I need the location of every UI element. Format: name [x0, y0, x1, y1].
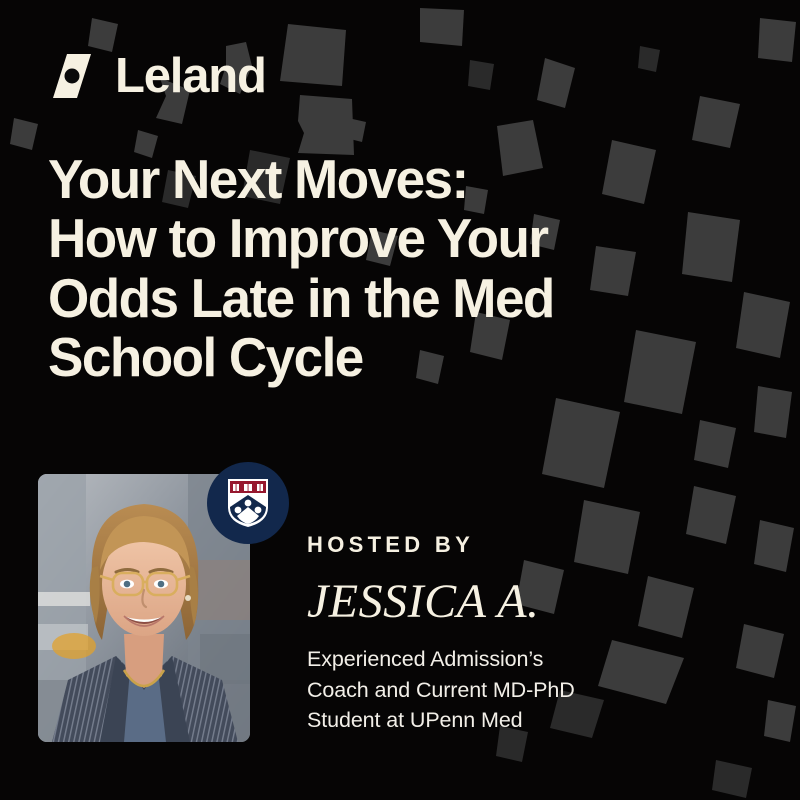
- host-description-line-2: Coach and Current MD-PhD: [307, 675, 727, 706]
- brand-logo[interactable]: Leland: [44, 48, 266, 104]
- host-description-line-3: Student at UPenn Med: [307, 705, 727, 736]
- headline-line-3: Odds Late in the Med: [48, 269, 724, 328]
- host-name: JESSICA A.: [307, 578, 727, 626]
- page-title: Your Next Moves: How to Improve Your Odd…: [48, 150, 724, 388]
- leland-rhombus-logo-icon: [44, 48, 100, 104]
- host-description-line-1: Experienced Admission’s: [307, 644, 727, 675]
- brand-name: Leland: [115, 52, 266, 101]
- host-description: Experienced Admission’s Coach and Curren…: [307, 644, 727, 736]
- host-info: HOSTED BY JESSICA A. Experienced Admissi…: [307, 534, 727, 736]
- promo-poster: Leland Your Next Moves: How to Improve Y…: [0, 0, 800, 800]
- headline-line-4: School Cycle: [48, 328, 724, 387]
- headline-line-2: How to Improve Your: [48, 209, 724, 268]
- upenn-shield-badge-icon: [207, 462, 289, 544]
- headline-line-1: Your Next Moves:: [48, 150, 724, 209]
- hosted-by-label: HOSTED BY: [307, 534, 727, 556]
